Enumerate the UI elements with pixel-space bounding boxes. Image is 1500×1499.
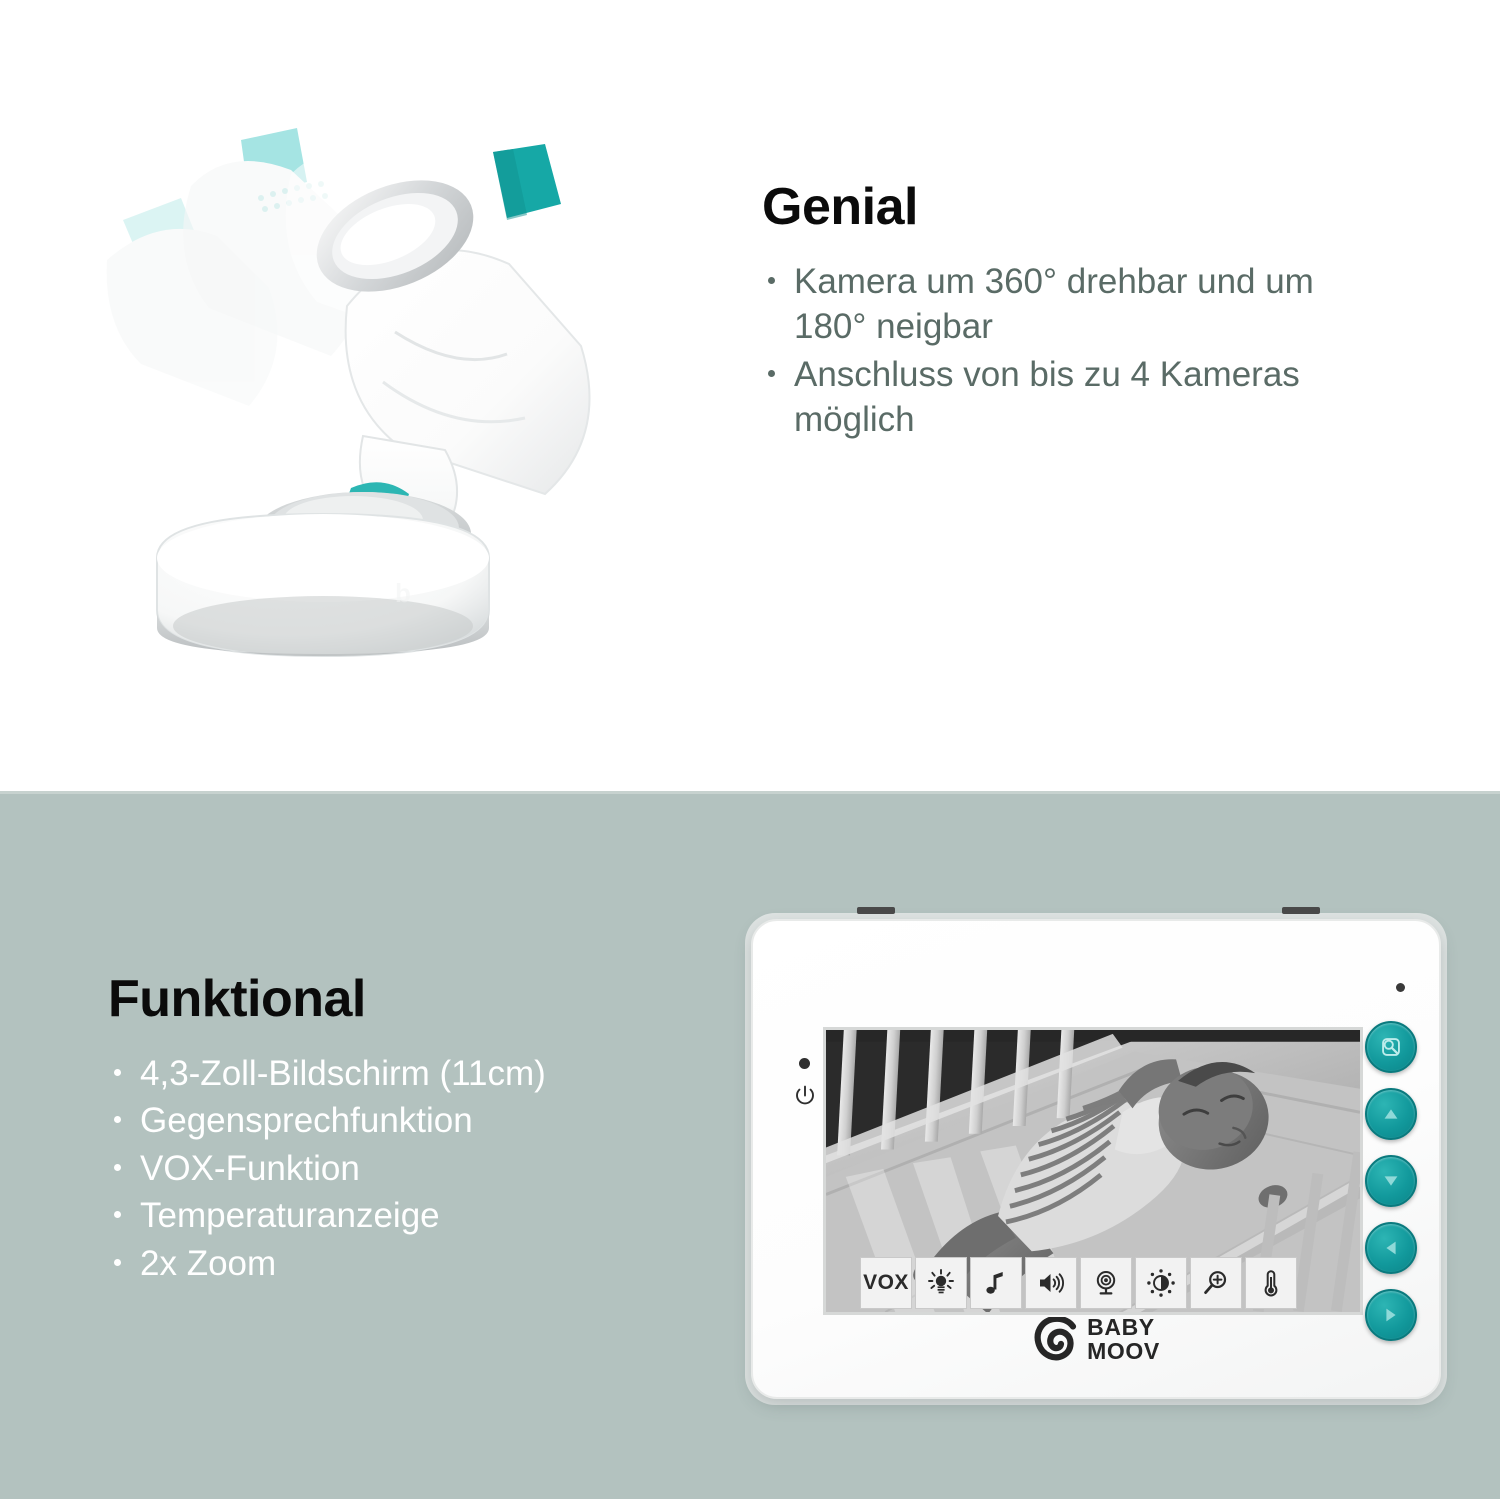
music-note-icon: [981, 1268, 1011, 1298]
monitor-top-tab-right: [1282, 907, 1320, 914]
nav-up-button[interactable]: [1365, 1088, 1417, 1140]
osd-toolbar[interactable]: VOX: [860, 1257, 1297, 1309]
camera-product-image: b: [95, 110, 655, 670]
babymoov-spiral-logo-icon: [1032, 1317, 1078, 1363]
monitor-top-tab-left: [857, 907, 895, 914]
status-led-indicator: [1396, 983, 1405, 992]
arrow-down-icon: [1380, 1170, 1402, 1192]
genial-heading: Genial: [762, 180, 1362, 235]
nav-left-button[interactable]: [1365, 1222, 1417, 1274]
list-item: 4,3-Zoll-Bildschirm (11cm): [108, 1051, 728, 1097]
list-item: Temperaturanzeige: [108, 1193, 728, 1239]
osd-button-night-light[interactable]: [915, 1257, 967, 1309]
parent-unit-monitor: VOX: [737, 897, 1455, 1409]
bullet-dot-icon: [768, 277, 775, 284]
osd-button-vox[interactable]: VOX: [860, 1257, 912, 1309]
list-item: Anschluss von bis zu 4 Kameras möglich: [762, 352, 1322, 443]
top-panel: b Genial Kamera um 360° drehbar und um 1…: [0, 0, 1500, 791]
bullet-dot-icon: [114, 1164, 121, 1171]
osd-button-temperature[interactable]: [1245, 1257, 1297, 1309]
brand-logo: BABY MOOV: [753, 1316, 1439, 1363]
speaker-volume-icon: [1036, 1268, 1066, 1298]
brand-logo-words: BABY MOOV: [1087, 1316, 1160, 1363]
list-item: 2x Zoom: [108, 1241, 728, 1287]
genial-bullet-text: Anschluss von bis zu 4 Kameras möglich: [794, 355, 1300, 440]
osd-button-camera[interactable]: [1080, 1257, 1132, 1309]
list-item: VOX-Funktion: [108, 1146, 728, 1192]
product-feature-sheet: b Genial Kamera um 360° drehbar und um 1…: [0, 0, 1500, 1499]
photo-zoom-button[interactable]: [1365, 1021, 1417, 1073]
night-light-icon: [926, 1268, 956, 1298]
osd-button-volume[interactable]: [1025, 1257, 1077, 1309]
thermometer-icon: [1256, 1268, 1286, 1298]
charging-led-icon: [799, 1058, 810, 1069]
photo-zoom-icon: [1377, 1033, 1405, 1061]
vox-label: VOX: [863, 1271, 909, 1295]
bullet-dot-icon: [114, 1259, 121, 1266]
svg-text:b: b: [395, 578, 411, 608]
arrow-left-icon: [1380, 1237, 1402, 1259]
monitor-front-shell: VOX: [751, 919, 1441, 1399]
brightness-icon: [1146, 1268, 1176, 1298]
arrow-up-icon: [1380, 1103, 1402, 1125]
zoom-in-icon: [1201, 1268, 1231, 1298]
brand-line-2: MOOV: [1087, 1340, 1160, 1363]
bullet-dot-icon: [114, 1211, 121, 1218]
osd-button-lullaby[interactable]: [970, 1257, 1022, 1309]
funktional-bullet-list: 4,3-Zoll-Bildschirm (11cm) Gegensprechfu…: [108, 1051, 728, 1287]
monitor-screen[interactable]: VOX: [826, 1030, 1360, 1312]
genial-bullet-text: Kamera um 360° drehbar und um 180° neigb…: [794, 262, 1314, 347]
funktional-heading: Funktional: [108, 972, 748, 1027]
funktional-bullet-text: 4,3-Zoll-Bildschirm (11cm): [140, 1054, 546, 1093]
genial-bullet-list: Kamera um 360° drehbar und um 180° neigb…: [762, 259, 1322, 443]
list-item: Gegensprechfunktion: [108, 1098, 728, 1144]
camera-icon: [1091, 1268, 1121, 1298]
bullet-dot-icon: [768, 370, 775, 377]
power-icon[interactable]: [793, 1084, 817, 1108]
nav-down-button[interactable]: [1365, 1155, 1417, 1207]
funktional-bullet-text: Temperaturanzeige: [140, 1196, 440, 1235]
monitor-side-controls[interactable]: [1365, 1021, 1417, 1341]
brand-line-1: BABY: [1087, 1316, 1160, 1339]
monitor-screen-frame: VOX: [823, 1027, 1363, 1315]
funktional-bullet-text: 2x Zoom: [140, 1244, 276, 1283]
bullet-dot-icon: [114, 1116, 121, 1123]
funktional-bullet-text: Gegensprechfunktion: [140, 1101, 473, 1140]
genial-text-block: Genial Kamera um 360° drehbar und um 180…: [762, 180, 1362, 445]
bullet-dot-icon: [114, 1069, 121, 1076]
funktional-bullet-text: VOX-Funktion: [140, 1149, 360, 1188]
list-item: Kamera um 360° drehbar und um 180° neigb…: [762, 259, 1322, 350]
funktional-text-block: Funktional 4,3-Zoll-Bildschirm (11cm) Ge…: [108, 972, 748, 1288]
osd-button-zoom[interactable]: [1190, 1257, 1242, 1309]
osd-button-brightness[interactable]: [1135, 1257, 1187, 1309]
